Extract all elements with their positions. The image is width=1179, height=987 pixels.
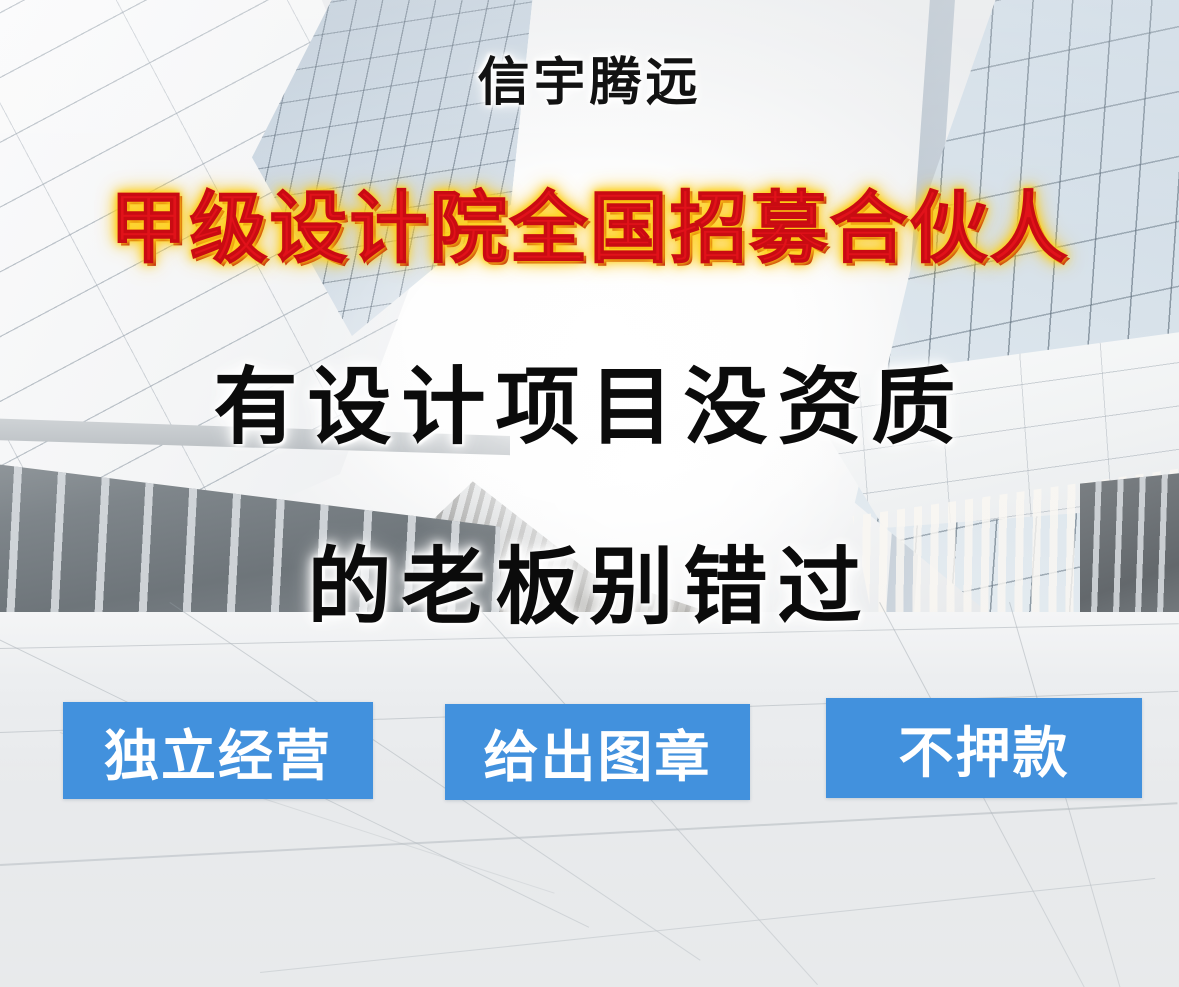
feature-badges: 独立经营 给出图章 不押款	[0, 698, 1179, 802]
subline-1: 有设计项目没资质	[0, 340, 1179, 461]
poster-canvas: 信宇腾远 甲级设计院全国招募合伙人 有设计项目没资质 的老板别错过 独立经营 给…	[0, 0, 1179, 987]
brand-name: 信宇腾远	[0, 40, 1179, 115]
badge-independent-operation[interactable]: 独立经营	[63, 702, 373, 799]
background-photo	[0, 0, 1179, 987]
badge-no-deposit[interactable]: 不押款	[826, 698, 1142, 798]
badge-provide-seal[interactable]: 给出图章	[445, 704, 750, 800]
headline-text: 甲级设计院全国招募合伙人	[0, 166, 1179, 278]
subline-2: 的老板别错过	[0, 520, 1179, 641]
